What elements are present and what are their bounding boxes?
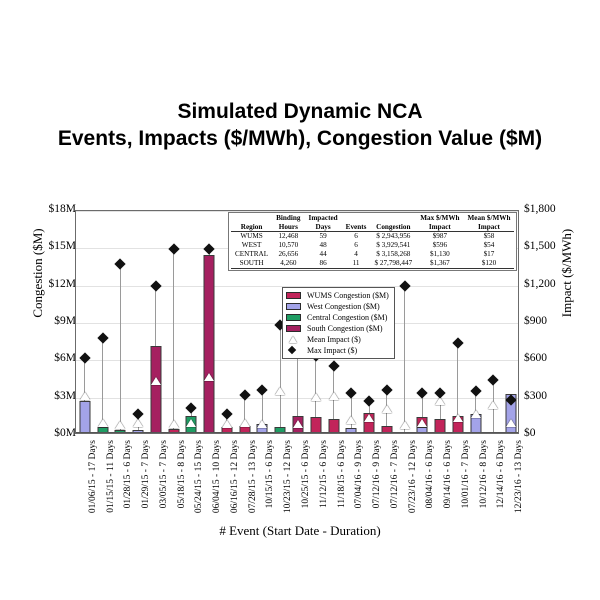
y-axis-left-title: Congestion ($M) — [30, 193, 46, 353]
legend-item[interactable]: Central Congestion ($M) — [286, 312, 389, 323]
legend-swatch — [286, 303, 301, 310]
congestion-bar[interactable] — [204, 255, 215, 433]
legend-swatch — [286, 314, 301, 321]
summary-table-header: Impact — [464, 223, 515, 232]
table-cell: 48 — [305, 241, 342, 250]
legend-label: South Congestion ($M) — [307, 324, 383, 333]
mean-impact-marker — [115, 421, 125, 429]
legend-label: WUMS Congestion ($M) — [307, 291, 389, 300]
table-cell: $54 — [464, 241, 515, 250]
triangle-marker-icon — [286, 335, 301, 344]
mean-impact-marker — [240, 419, 250, 427]
bar-group[interactable] — [200, 211, 218, 433]
x-category-label: 05/18/15 - 8 Days — [177, 440, 187, 540]
y-tick-right: $300 — [524, 390, 584, 402]
legend-label: Central Congestion ($M) — [307, 313, 387, 322]
max-impact-marker — [452, 338, 463, 349]
mean-impact-marker — [417, 419, 427, 427]
x-category-label: 07/04/16 - 9 Days — [354, 440, 364, 540]
bar-group[interactable] — [112, 211, 130, 433]
table-cell: 44 — [305, 250, 342, 259]
x-category-label: 07/12/16 - 9 Days — [372, 440, 382, 540]
mean-impact-marker — [151, 377, 161, 385]
summary-table-header: Mean $/MWh — [464, 214, 515, 223]
chart-title: Simulated Dynamic NCA Events, Impacts ($… — [0, 98, 600, 153]
legend-label: Mean Impact ($) — [307, 335, 361, 344]
summary-table-header: Congestion — [370, 223, 416, 232]
legend-label: West Congestion ($M) — [307, 302, 380, 311]
table-cell: 86 — [305, 259, 342, 269]
mean-impact-marker — [275, 387, 285, 395]
table-row: CENTRAL26,656444$ 3,158,268$1,130$17 — [231, 250, 514, 259]
mean-impact-marker — [364, 414, 374, 422]
table-cell: 6 — [342, 232, 371, 242]
chart-page: Simulated Dynamic NCA Events, Impacts ($… — [0, 0, 600, 600]
summary-table: BindingImpactedMax $/MWhMean $/MWhRegion… — [228, 212, 517, 271]
y-tick-left: $3M — [18, 390, 76, 402]
mean-impact-marker — [346, 416, 356, 424]
impact-stem — [173, 249, 174, 433]
max-impact-marker — [115, 258, 126, 269]
table-cell: $596 — [416, 241, 463, 250]
diamond-marker-icon — [286, 346, 301, 355]
max-impact-marker — [363, 395, 374, 406]
table-row: SOUTH4,2608611$ 27,798,447$1,367$120 — [231, 259, 514, 269]
y-tick-right: $0 — [524, 427, 584, 439]
y-tick-left: $15M — [18, 240, 76, 252]
impact-stem — [404, 286, 405, 433]
mean-impact-marker — [488, 401, 498, 409]
x-category-label: 06/04/15 - 10 Days — [212, 440, 222, 540]
mean-impact-marker — [311, 393, 321, 401]
x-category-label: 07/28/15 - 13 Days — [248, 440, 258, 540]
table-cell: 6 — [342, 241, 371, 250]
bar-group[interactable] — [76, 211, 94, 433]
congestion-bar[interactable] — [435, 419, 446, 433]
y-tick-right: $900 — [524, 315, 584, 327]
summary-table-head: BindingImpactedMax $/MWhMean $/MWhRegion… — [231, 214, 514, 232]
bar-group[interactable] — [165, 211, 183, 433]
mean-impact-marker — [169, 420, 179, 428]
mean-impact-marker — [506, 419, 516, 427]
summary-table-header: Events — [342, 223, 371, 232]
x-category-label: 11/12/15 - 6 Days — [319, 440, 329, 540]
legend-item[interactable]: West Congestion ($M) — [286, 301, 389, 312]
table-cell: CENTRAL — [231, 250, 272, 259]
y-tick-right: $1,200 — [524, 278, 584, 290]
summary-table-header — [231, 214, 272, 223]
x-category-label: 07/12/16 - 7 Days — [390, 440, 400, 540]
bar-group[interactable] — [129, 211, 147, 433]
legend-label: Max Impact ($) — [307, 346, 357, 355]
summary-table-header: Region — [231, 223, 272, 232]
table-row: WUMS12,468596$ 2,943,956$987$58 — [231, 232, 514, 242]
max-impact-marker — [132, 408, 143, 419]
summary-table-header: Impacted — [305, 214, 342, 223]
table-cell: $58 — [464, 232, 515, 242]
x-category-label: 12/23/16 - 13 Days — [514, 440, 524, 540]
max-impact-marker — [470, 385, 481, 396]
mean-impact-marker — [293, 420, 303, 428]
table-cell: $120 — [464, 259, 515, 269]
y-tick-left: $9M — [18, 315, 76, 327]
table-cell: SOUTH — [231, 259, 272, 269]
chart-legend: WUMS Congestion ($M)West Congestion ($M)… — [282, 287, 395, 359]
congestion-bar[interactable] — [328, 419, 339, 433]
x-category-label: 01/29/15 - 7 Days — [141, 440, 151, 540]
max-impact-marker — [150, 280, 161, 291]
mean-impact-marker — [98, 419, 108, 427]
y-tick-right: $1,800 — [524, 203, 584, 215]
x-category-label: 01/15/15 - 11 Days — [106, 440, 116, 540]
table-cell: WUMS — [231, 232, 272, 242]
summary-table-header: Binding — [272, 214, 304, 223]
summary-table-body: WUMS12,468596$ 2,943,956$987$58WEST10,57… — [231, 232, 514, 269]
max-impact-marker — [399, 280, 410, 291]
x-category-label: 09/14/16 - 6 Days — [443, 440, 453, 540]
table-cell: $ 2,943,956 — [370, 232, 416, 242]
y-tick-left: $0M — [18, 427, 76, 439]
table-cell: WEST — [231, 241, 272, 250]
table-cell: $17 — [464, 250, 515, 259]
summary-table-header — [342, 214, 371, 223]
x-category-label: 10/12/16 - 8 Days — [479, 440, 489, 540]
mean-impact-marker — [222, 420, 232, 428]
x-category-label: 10/01/16 - 7 Days — [461, 440, 471, 540]
mean-impact-marker — [453, 414, 463, 422]
summary-table-header: Hours — [272, 223, 304, 232]
legend-swatch — [286, 292, 301, 299]
y-tick-right: $1,500 — [524, 240, 584, 252]
mean-impact-marker — [186, 419, 196, 427]
x-category-label: 08/04/16 - 6 Days — [425, 440, 435, 540]
y-tick-left: $12M — [18, 278, 76, 290]
table-cell: 4,260 — [272, 259, 304, 269]
x-category-label: 01/28/15 - 6 Days — [123, 440, 133, 540]
mean-impact-marker — [80, 392, 90, 400]
mean-impact-marker — [133, 419, 143, 427]
bar-group[interactable] — [183, 211, 201, 433]
max-impact-marker — [239, 389, 250, 400]
table-cell: $987 — [416, 232, 463, 242]
table-cell: 12,468 — [272, 232, 304, 242]
x-category-label: 05/24/15 - 15 Days — [194, 440, 204, 540]
mean-impact-marker — [400, 421, 410, 429]
legend-swatch — [286, 325, 301, 332]
x-category-label: 01/06/15 - 17 Days — [88, 440, 98, 540]
x-category-label: 10/23/15 - 12 Days — [283, 440, 293, 540]
max-impact-marker — [97, 333, 108, 344]
x-category-label: 07/23/16 - 12 Days — [408, 440, 418, 540]
mean-impact-marker — [382, 405, 392, 413]
max-impact-marker — [488, 374, 499, 385]
table-cell: 11 — [342, 259, 371, 269]
legend-item[interactable]: South Congestion ($M) — [286, 323, 389, 334]
summary-table-header — [370, 214, 416, 223]
y-tick-left: $18M — [18, 203, 76, 215]
table-cell: 26,656 — [272, 250, 304, 259]
table-cell: $ 3,929,541 — [370, 241, 416, 250]
mean-impact-marker — [204, 373, 214, 381]
x-category-label: 12/14/16 - 6 Days — [496, 440, 506, 540]
max-impact-marker — [204, 244, 215, 255]
table-cell: 59 — [305, 232, 342, 242]
max-impact-marker — [257, 384, 268, 395]
chart-title-line-1: Simulated Dynamic NCA — [0, 98, 600, 125]
table-cell: 4 — [342, 250, 371, 259]
max-impact-marker — [328, 360, 339, 371]
legend-item[interactable]: Mean Impact ($) — [286, 334, 389, 345]
table-cell: $ 27,798,447 — [370, 259, 416, 269]
x-category-label: 03/05/15 - 7 Days — [159, 440, 169, 540]
congestion-bar[interactable] — [150, 346, 161, 433]
mean-impact-marker — [329, 392, 339, 400]
x-category-label: 11/18/15 - 6 Days — [337, 440, 347, 540]
table-cell: $ 3,158,268 — [370, 250, 416, 259]
summary-table-header: Max $/MWh — [416, 214, 463, 223]
max-impact-marker — [417, 388, 428, 399]
table-cell: $1,130 — [416, 250, 463, 259]
table-cell: 10,570 — [272, 241, 304, 250]
summary-table-header: Days — [305, 223, 342, 232]
mean-impact-marker — [257, 420, 267, 428]
y-tick-right: $600 — [524, 352, 584, 364]
max-impact-marker — [381, 384, 392, 395]
impact-stem — [120, 264, 121, 433]
max-impact-marker — [186, 402, 197, 413]
table-cell: $1,367 — [416, 259, 463, 269]
congestion-bar[interactable] — [79, 401, 90, 433]
legend-item[interactable]: WUMS Congestion ($M) — [286, 290, 389, 301]
table-row: WEST10,570486$ 3,929,541$596$54 — [231, 241, 514, 250]
x-category-label: 10/25/15 - 6 Days — [301, 440, 311, 540]
max-impact-marker — [168, 244, 179, 255]
x-category-label: 06/16/15 - 12 Days — [230, 440, 240, 540]
max-impact-marker — [79, 353, 90, 364]
x-category-label: 10/15/15 - 6 Days — [265, 440, 275, 540]
chart-title-line-2: Events, Impacts ($/MWh), Congestion Valu… — [0, 125, 600, 152]
summary-table-grid: BindingImpactedMax $/MWhMean $/MWhRegion… — [231, 214, 514, 269]
mean-impact-marker — [471, 410, 481, 418]
impact-stem — [280, 325, 281, 433]
max-impact-marker — [346, 387, 357, 398]
congestion-bar[interactable] — [310, 417, 321, 433]
legend-item[interactable]: Max Impact ($) — [286, 345, 389, 356]
max-impact-marker — [221, 408, 232, 419]
summary-table-header: Impact — [416, 223, 463, 232]
y-tick-left: $6M — [18, 352, 76, 364]
bar-group[interactable] — [147, 211, 165, 433]
y-axis-right-title: Impact ($/MWh) — [559, 193, 575, 353]
x-axis-line — [76, 432, 518, 433]
bar-group[interactable] — [94, 211, 112, 433]
